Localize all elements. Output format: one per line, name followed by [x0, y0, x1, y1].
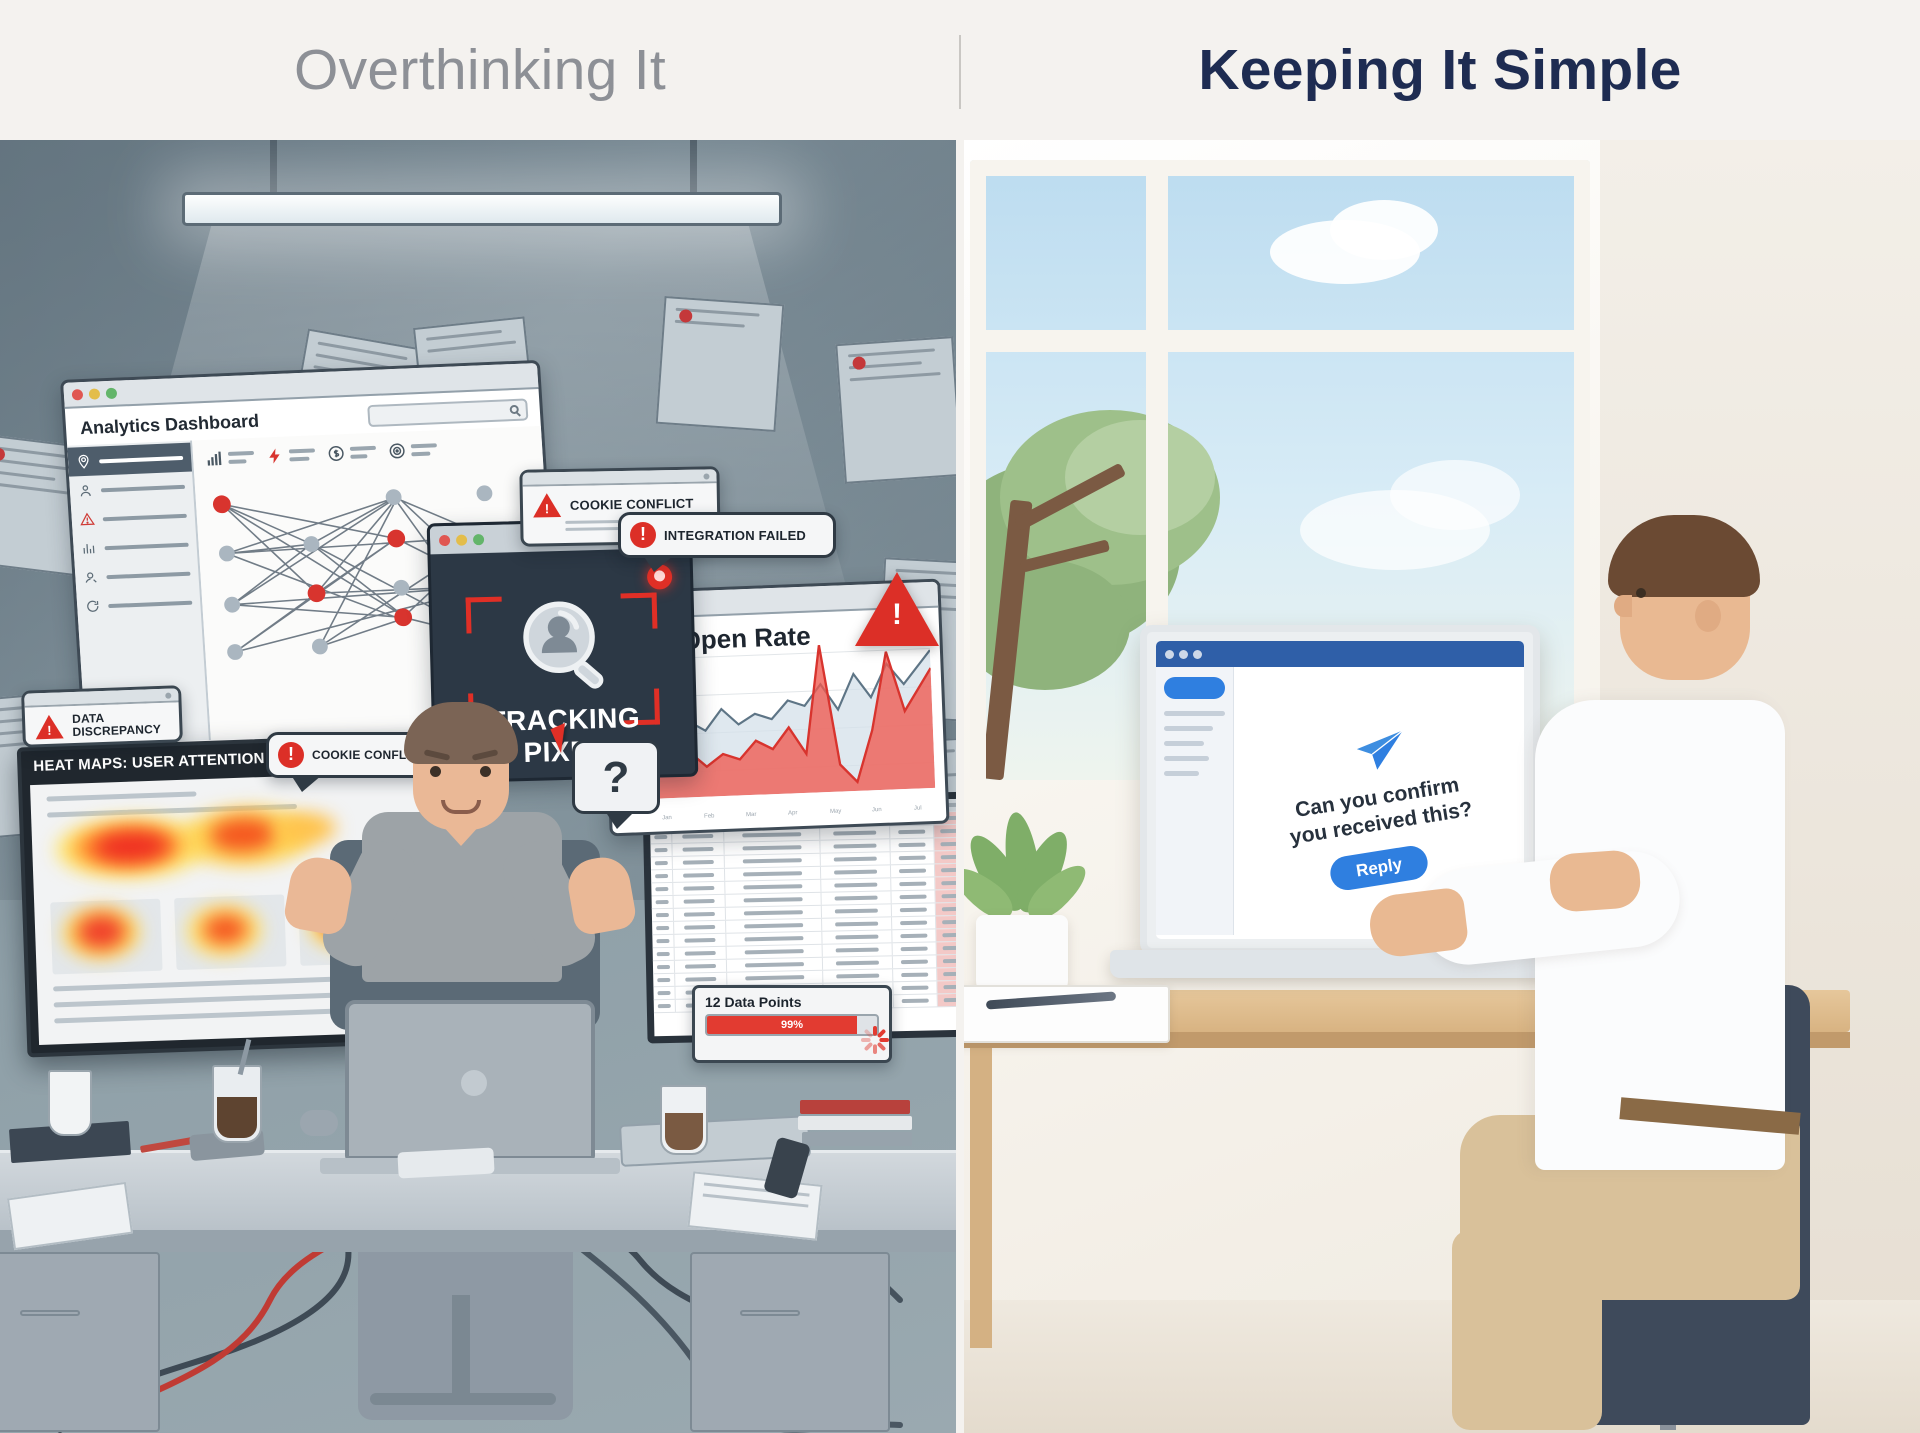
email-message-text: Can you confirm you received this? [1284, 771, 1474, 850]
alert-triangle-icon [79, 512, 95, 528]
magnifier-user-icon [509, 589, 622, 702]
sidebar-line [1164, 756, 1209, 761]
header-bar: Overthinking It Keeping It Simple [0, 0, 1920, 140]
window-dot-icon[interactable] [1193, 650, 1202, 659]
refresh-icon [85, 598, 101, 614]
metric-lines [228, 451, 255, 464]
sidebar-line [1164, 771, 1199, 776]
alert-label: DATA DISCREPANCY [72, 710, 168, 740]
error-circle-icon: ! [630, 522, 656, 548]
x-tick: Mar [746, 812, 757, 818]
warning-triangle-icon [35, 715, 64, 740]
email-app-titlebar [1156, 641, 1524, 667]
panel-divider [956, 140, 964, 1433]
search-input[interactable] [367, 398, 528, 427]
dashboard-title: Analytics Dashboard [79, 410, 259, 438]
metric-lines [289, 448, 316, 461]
x-tick: Jun [872, 807, 882, 813]
right-scene-panel: Can you confirm you received this? Reply [960, 140, 1920, 1433]
maximize-dot-icon[interactable] [106, 387, 118, 398]
loading-spinner-icon [859, 1024, 891, 1056]
iced-coffee-cup [212, 1065, 262, 1143]
x-tick: Feb [704, 813, 715, 819]
target-icon [388, 442, 407, 461]
user-search-icon [83, 570, 99, 586]
error-circle-icon: ! [278, 742, 304, 768]
sidebar-item-label [108, 600, 192, 608]
sidebar-item-refresh[interactable] [76, 587, 201, 621]
close-dot-icon[interactable] [72, 389, 84, 400]
chair-post [452, 1295, 470, 1405]
metric-speed [266, 445, 316, 465]
drawer-unit-right [690, 1252, 890, 1432]
sidebar-line [1164, 711, 1225, 716]
cloud-icon [1390, 460, 1520, 530]
window-frame-right [1574, 160, 1590, 780]
location-pin-icon [76, 454, 92, 470]
bar-chart-icon [81, 541, 97, 557]
window-frame-left [970, 160, 986, 780]
desk-leg [970, 1048, 992, 1348]
header-left: Overthinking It [0, 37, 960, 103]
book-stack [800, 1100, 910, 1114]
cloud-icon [1330, 200, 1438, 260]
drawer-unit-left [0, 1252, 160, 1432]
drawer-handle [740, 1310, 800, 1316]
mouse[interactable] [300, 1110, 338, 1136]
progress-bar: 99% [705, 1014, 879, 1036]
lightning-bolt-icon [266, 447, 285, 466]
x-tick: Jan [662, 815, 672, 821]
alert-integration-failed[interactable]: ! INTEGRATION FAILED [618, 512, 836, 558]
window-frame-top [970, 160, 1590, 176]
page-title-right: Keeping It Simple [1198, 37, 1681, 103]
window-dot-icon[interactable] [1179, 650, 1188, 659]
drawer-handle [20, 1310, 80, 1316]
notepad [960, 985, 1170, 1043]
laptop-logo [461, 1070, 487, 1096]
alert-label: COOKIE CONFLICT [570, 495, 694, 512]
left-scene-panel: Analytics Dashboard [0, 140, 960, 1433]
book-stack [798, 1116, 912, 1130]
minimize-dot-icon[interactable] [89, 388, 101, 399]
alert-content: DATA DISCREPANCY [25, 702, 180, 745]
alert-data-discrepancy[interactable]: DATA DISCREPANCY [21, 685, 183, 748]
sidebar-line [1164, 726, 1213, 731]
progress-label: 12 Data Points [695, 988, 889, 1014]
chair-base [370, 1393, 556, 1405]
bracket-tl-icon [466, 597, 503, 634]
sidebar-item-label [103, 513, 187, 521]
person-right-hand-back [1548, 849, 1642, 913]
coffee-cup-dark [660, 1085, 708, 1155]
minimize-dot-icon[interactable] [456, 534, 467, 545]
sidebar-item-label [104, 542, 188, 550]
search-icon [509, 405, 519, 414]
tree-foliage [1065, 420, 1215, 535]
sidebar-item-label [99, 455, 183, 463]
window-dot-icon[interactable] [1165, 650, 1174, 659]
metric-lines [350, 446, 377, 459]
comparison-image: Overthinking It Keeping It Simple [0, 0, 1920, 1433]
bar-chart-icon [205, 449, 224, 468]
panels-container: Analytics Dashboard [0, 140, 1920, 1433]
person-right-nose [1614, 595, 1632, 617]
metric-goal [388, 440, 438, 460]
question-mark-label: ? [575, 743, 657, 813]
metric-revenue [327, 443, 377, 463]
page-title-left: Overthinking It [294, 37, 666, 103]
power-strip [397, 1148, 494, 1179]
person-right-ear [1695, 600, 1721, 632]
progress-percent: 99% [707, 1019, 877, 1031]
light-arm-right [690, 140, 697, 200]
metric-lines [411, 443, 438, 456]
book-stack [802, 1132, 912, 1146]
warning-triangle-icon [533, 493, 561, 517]
question-thought-bubble: ? [572, 740, 660, 814]
bracket-tr-icon [621, 593, 658, 630]
alert-content: ! INTEGRATION FAILED [621, 515, 833, 555]
reply-button[interactable]: Reply [1328, 843, 1430, 892]
alert-label: INTEGRATION FAILED [664, 528, 806, 543]
paper-plane-icon [1351, 727, 1407, 773]
compose-button[interactable] [1164, 677, 1225, 699]
sidebar-item-label [106, 571, 190, 579]
x-tick: Apr [788, 810, 798, 816]
dollar-pie-icon [327, 444, 346, 463]
close-dot-icon[interactable] [439, 534, 450, 545]
x-tick: May [830, 809, 842, 815]
maximize-dot-icon[interactable] [473, 534, 484, 545]
light-arm-left [270, 140, 277, 200]
header-right: Keeping It Simple [960, 37, 1920, 103]
user-icon [78, 483, 94, 499]
sidebar-line [1164, 741, 1204, 746]
sidebar-item-label [101, 484, 185, 492]
data-points-progress-box: 12 Data Points 99% [692, 985, 892, 1063]
metric-chart [205, 448, 255, 468]
ceiling-light [182, 192, 782, 226]
laptop-left[interactable] [345, 1000, 595, 1160]
person-right-eye [1636, 588, 1646, 598]
coffee-cup-white [48, 1070, 92, 1136]
header-divider [959, 35, 961, 109]
person-left-eye-left [430, 766, 441, 777]
email-sidebar [1156, 667, 1234, 935]
wall-note [656, 296, 785, 432]
wall-note [835, 336, 960, 484]
window-mullion-horizontal [970, 330, 1590, 352]
big-warning-triangle-icon [855, 572, 939, 646]
person-left-eye-right [480, 766, 491, 777]
x-tick: Jul [914, 805, 922, 811]
